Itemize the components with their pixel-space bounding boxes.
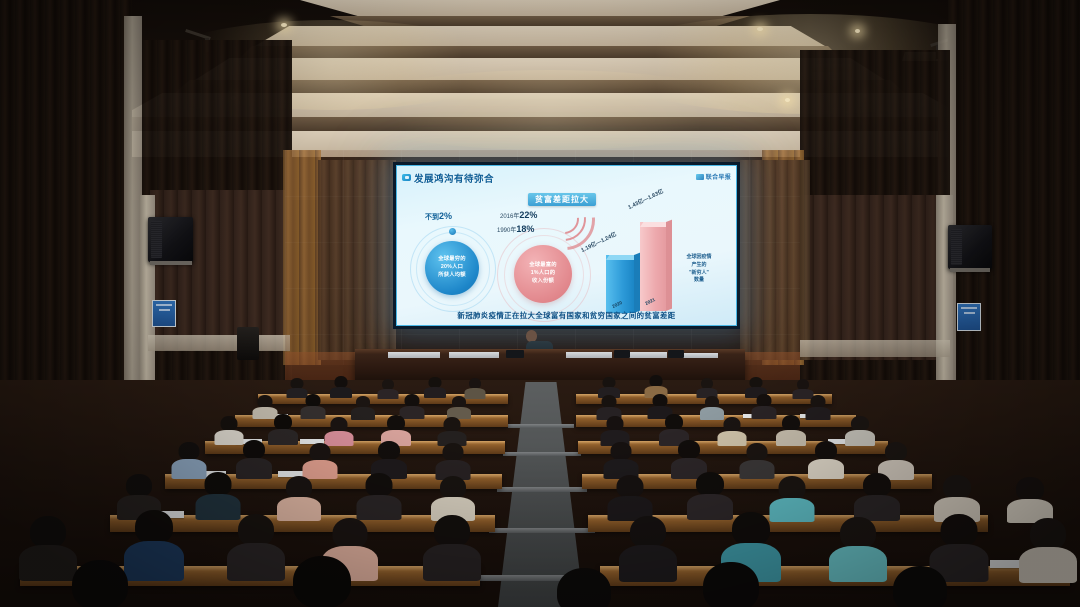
chart-note-line-4: 数量: [673, 277, 725, 285]
speaker-grill-left: [151, 221, 163, 259]
table-document-1: [388, 352, 440, 358]
speaker-bracket-left: [150, 261, 192, 265]
presentation-slide: 发展鸿沟有待弥合 联合早报 贫富差距拉大 全球最穷的 20%人口 所获人均额 不…: [396, 165, 737, 326]
audience-person: [1020, 518, 1076, 580]
audience-person: [330, 376, 351, 396]
audience-person: [718, 417, 746, 445]
exit-sign-right: [957, 303, 981, 331]
audience-person: [268, 414, 297, 444]
wall-panel-right: [800, 195, 940, 360]
brand-mark-icon: [696, 174, 704, 180]
audience-person: [700, 396, 723, 418]
aisle-step-4: [489, 528, 595, 533]
stat-1990-year: 1990年: [497, 228, 516, 234]
audience-person: [436, 443, 470, 479]
audience-person: [378, 379, 398, 397]
downlight-1: [281, 23, 287, 27]
table-document-2: [449, 352, 499, 358]
audience-person: [645, 375, 667, 396]
audience-person: [228, 514, 284, 578]
audience-person-foreground: [880, 566, 960, 607]
audience-person: [357, 473, 400, 518]
wall-strip-right: [800, 340, 950, 357]
audience-person-foreground: [545, 568, 623, 607]
audience-person: [697, 378, 717, 396]
cove-glow-center: [340, 70, 760, 150]
aisle-step-3: [497, 487, 587, 492]
aisle-step-1: [508, 424, 574, 428]
audience-person: [740, 443, 774, 478]
circle-pink-line-1: 全球最富的: [529, 262, 557, 270]
stat-2016-year: 2016年: [500, 214, 519, 220]
audience-person: [325, 417, 353, 445]
slide-title: 发展鸿沟有待弥合: [414, 171, 494, 185]
table-document-3: [566, 352, 612, 358]
audience-person: [196, 472, 239, 518]
audience-person: [855, 473, 899, 519]
audience-person: [424, 515, 480, 578]
audience-person: [278, 476, 320, 519]
audience-person: [438, 417, 466, 445]
speaker-bracket-right: [950, 268, 990, 272]
ceiling-coffer-1: [300, 0, 780, 16]
audience-person: [845, 416, 874, 445]
audience-person: [806, 395, 830, 418]
callout-value: 2%: [439, 211, 452, 221]
marker-dot-blue: [449, 228, 456, 235]
curtain-left-outer: [0, 0, 132, 420]
downlight-5: [785, 98, 790, 102]
chart-note-line-1: 全球因疫情: [673, 254, 725, 262]
audience-person: [601, 416, 629, 445]
audience-person: [424, 377, 445, 396]
table-monitor-3: [668, 350, 684, 358]
circle-blue-line-3: 所获人均额: [438, 272, 466, 280]
circle-richest-1pct: 全球最富的 1%人口的 收入份额: [514, 245, 572, 303]
table-monitor-2: [614, 350, 630, 358]
brand-logo-text: 联合早报: [706, 175, 731, 181]
audience-person: [597, 395, 621, 418]
stat-1990-value: 18%: [516, 224, 534, 234]
audience-person: [1008, 477, 1052, 521]
wall-strip-left: [148, 335, 290, 351]
aisle-step-2: [503, 452, 581, 456]
audience-person: [598, 377, 619, 396]
lecture-hall-scene: 发展鸿沟有待弥合 联合早报 贫富差距拉大 全球最穷的 20%人口 所获人均额 不…: [0, 0, 1080, 607]
audience-person: [447, 396, 470, 418]
audience-person: [830, 517, 886, 579]
audience-person: [604, 442, 638, 478]
exit-sign-left: [152, 300, 176, 327]
circle-poorest-20pct: 全球最穷的 20%人口 所获人均额: [425, 241, 479, 295]
audience-person: [303, 443, 337, 478]
stat-2016: 2016年22%: [500, 210, 537, 220]
circle-pink-line-2: 1%人口的: [531, 270, 556, 278]
title-bullet-icon: [402, 174, 411, 181]
circle-blue-line-2: 20%人口: [441, 264, 463, 272]
audience-person: [752, 394, 776, 418]
audience-person: [432, 476, 474, 519]
audience-person-foreground: [280, 556, 364, 607]
audience-person: [465, 378, 485, 397]
bar-label-2021: 1.43亿—1.63亿: [626, 187, 664, 211]
stat-1990: 1990年18%: [497, 224, 534, 234]
downlight-2: [757, 27, 763, 31]
projection-screen[interactable]: 发展鸿沟有待弥合 联合早报 贫富差距拉大 全球最穷的 20%人口 所获人均额 不…: [393, 162, 740, 329]
audience-person: [236, 440, 271, 478]
table-monitor-1: [506, 350, 524, 358]
callout-prefix: 不到: [425, 214, 439, 221]
audience-person: [351, 396, 374, 418]
wall-speaker-right: [948, 225, 992, 269]
audience-person: [776, 415, 805, 445]
brand-logo: 联合早报: [696, 172, 731, 181]
chart-note: 全球因疫情 产生的 "新穷人" 数量: [673, 254, 725, 285]
circle-pink-line-3: 收入份额: [532, 278, 554, 286]
wall-speaker-left: [148, 217, 193, 262]
audience-person-foreground: [60, 560, 140, 607]
audience-person: [808, 441, 843, 478]
audience-person: [301, 394, 325, 417]
audience-person-foreground: [690, 562, 772, 607]
slide-caption: 新冠肺炎疫情正在拉大全球富有国家和贫穷国家之间的贫富差距: [397, 310, 736, 321]
audience-person: [608, 475, 651, 519]
downlight-3: [855, 29, 860, 33]
callout-under-2-percent: 不到2%: [425, 211, 452, 222]
chart-note-line-2: 产生的: [673, 262, 725, 270]
audience-person: [620, 516, 676, 579]
speaker-grill-right: [951, 229, 962, 266]
curtain-right-outer: [948, 0, 1080, 430]
circle-blue-line-1: 全球最穷的: [438, 256, 466, 264]
trash-bin-left: [237, 327, 259, 360]
